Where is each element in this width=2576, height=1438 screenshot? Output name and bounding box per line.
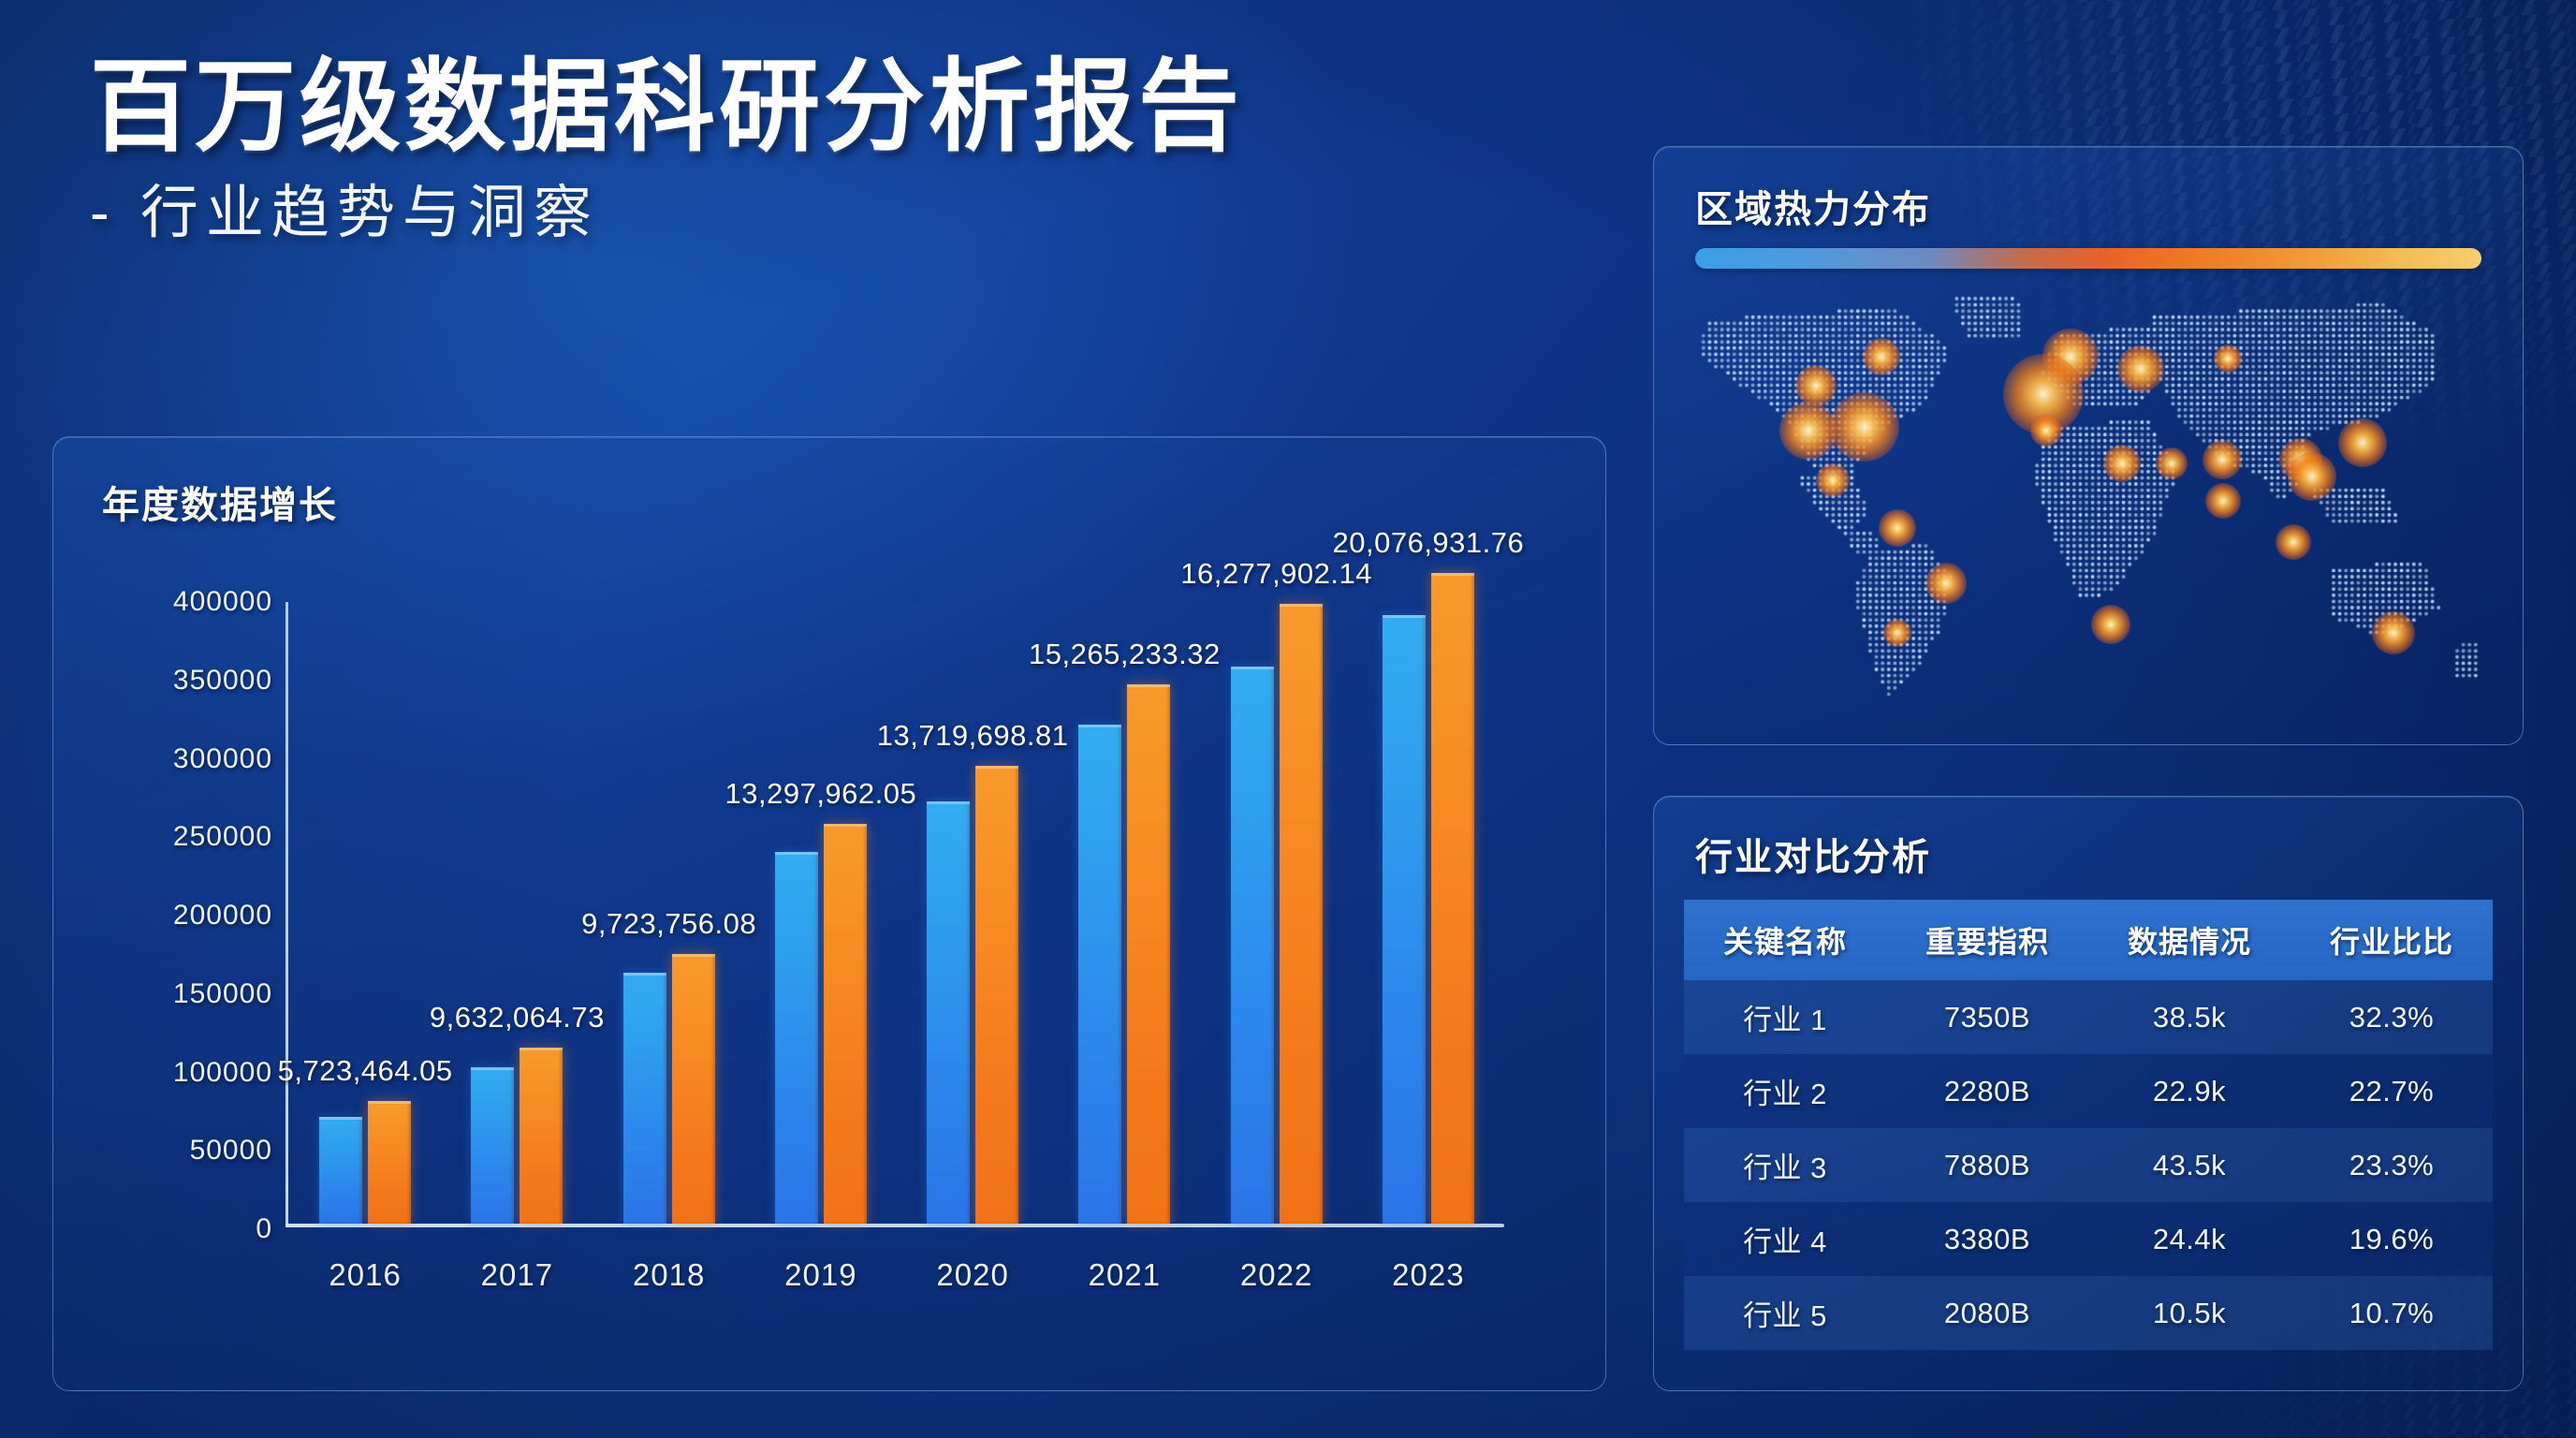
bar-group[interactable]: 13,719,698.81 <box>897 602 1048 1224</box>
bar-chart-plot: 0500001000001500002000002500003000003500… <box>102 565 1564 1353</box>
table-row[interactable]: 行业 43380B24.4k19.6% <box>1684 1202 2493 1276</box>
table-column-header[interactable]: 重要指积 <box>1886 900 2088 980</box>
table-cell: 行业 2 <box>1684 1054 1886 1128</box>
bar-value-label: 5,723,464.05 <box>278 1054 453 1088</box>
x-axis-labels: 20162017201820192020202120222023 <box>289 1257 1504 1293</box>
industry-comparison-table: 关键名称重要指积数据情况行业比比 行业 17350B38.5k32.3%行业 2… <box>1684 900 2493 1350</box>
table-body: 行业 17350B38.5k32.3%行业 22280B22.9k22.7%行业… <box>1684 980 2493 1350</box>
x-axis-label: 2022 <box>1201 1257 1353 1293</box>
y-axis-tick: 250000 <box>173 821 272 853</box>
bar-group[interactable]: 9,723,756.08 <box>593 602 745 1224</box>
y-axis-line <box>285 602 288 1227</box>
bar-group[interactable]: 20,076,931.76 <box>1353 602 1504 1224</box>
table-cell: 38.5k <box>2088 980 2291 1054</box>
bar-orange[interactable] <box>672 954 715 1224</box>
table-card-title: 行业对比分析 <box>1695 827 1931 881</box>
bar-value-label: 20,076,931.76 <box>1333 526 1525 560</box>
table-cell: 行业 1 <box>1684 980 1886 1054</box>
bar-blue[interactable] <box>1078 725 1121 1224</box>
bar-orange[interactable] <box>1127 684 1170 1224</box>
y-axis-tick: 100000 <box>173 1057 272 1089</box>
table-cell: 3380B <box>1886 1202 2088 1276</box>
table-cell: 32.3% <box>2291 980 2493 1054</box>
table-row[interactable]: 行业 52080B10.5k10.7% <box>1684 1276 2493 1350</box>
table-cell: 19.6% <box>2291 1202 2493 1276</box>
table-cell: 43.5k <box>2088 1128 2291 1202</box>
bar-groups: 5,723,464.059,632,064.739,723,756.0813,2… <box>289 602 1504 1224</box>
page-subtitle: - 行业趋势与洞察 <box>90 179 1243 248</box>
heatmap-card-title: 区域热力分布 <box>1695 179 1931 233</box>
table-row[interactable]: 行业 22280B22.9k22.7% <box>1684 1054 2493 1128</box>
table-cell: 行业 4 <box>1684 1202 1886 1276</box>
table-cell: 22.9k <box>2088 1054 2291 1128</box>
x-axis-label: 2019 <box>745 1257 897 1293</box>
x-axis-label: 2016 <box>289 1257 441 1293</box>
bar-orange[interactable] <box>520 1048 563 1224</box>
annual-growth-chart-card: 年度数据增长 050000100000150000200000250000300… <box>52 436 1606 1391</box>
table-cell: 10.7% <box>2291 1276 2493 1350</box>
regional-heatmap-card: 区域热力分布 <box>1653 146 2524 745</box>
bar-orange[interactable] <box>368 1101 411 1224</box>
y-axis-tick: 350000 <box>173 665 272 697</box>
world-map-dotted-icon <box>1682 295 2495 707</box>
bar-orange[interactable] <box>824 824 867 1224</box>
table-header-row: 关键名称重要指积数据情况行业比比 <box>1684 900 2493 980</box>
y-axis-tick: 400000 <box>173 586 272 618</box>
bar-blue[interactable] <box>775 852 818 1224</box>
table-cell: 22.7% <box>2291 1054 2493 1128</box>
bar-orange[interactable] <box>1280 604 1323 1224</box>
x-axis-label: 2020 <box>897 1257 1048 1293</box>
bar-blue[interactable] <box>1383 615 1426 1224</box>
industry-comparison-card: 行业对比分析 关键名称重要指积数据情况行业比比 行业 17350B38.5k32… <box>1653 796 2524 1391</box>
table-cell: 行业 5 <box>1684 1276 1886 1350</box>
x-axis-line <box>285 1224 1504 1227</box>
table-row[interactable]: 行业 37880B43.5k23.3% <box>1684 1128 2493 1202</box>
table-cell: 行业 3 <box>1684 1128 1886 1202</box>
page-title: 百万级数据科研分析报告 <box>90 49 1243 164</box>
bar-value-label: 9,723,756.08 <box>581 907 756 941</box>
world-map <box>1682 295 2495 707</box>
y-axis-tick: 200000 <box>173 900 272 932</box>
table-cell: 10.5k <box>2088 1276 2291 1350</box>
bar-value-label: 13,719,698.81 <box>877 719 1069 753</box>
table-column-header[interactable]: 数据情况 <box>2088 900 2291 980</box>
table-cell: 23.3% <box>2291 1128 2493 1202</box>
bar-value-label: 16,277,902.14 <box>1180 557 1372 591</box>
y-axis-tick: 0 <box>256 1213 272 1245</box>
bar-blue[interactable] <box>319 1117 362 1224</box>
x-axis-label: 2017 <box>441 1257 593 1293</box>
bar-blue[interactable] <box>1231 667 1274 1224</box>
page-header: 百万级数据科研分析报告 - 行业趋势与洞察 <box>90 49 1243 249</box>
y-axis-tick: 300000 <box>173 743 272 775</box>
table-column-header[interactable]: 行业比比 <box>2291 900 2493 980</box>
heat-gradient-bar-icon <box>1695 248 2481 269</box>
table-column-header[interactable]: 关键名称 <box>1684 900 1886 980</box>
table-cell: 2280B <box>1886 1054 2088 1128</box>
x-axis-label: 2023 <box>1353 1257 1504 1293</box>
table-cell: 7880B <box>1886 1128 2088 1202</box>
bar-orange[interactable] <box>975 766 1018 1224</box>
bar-blue[interactable] <box>471 1067 514 1225</box>
chart-card-title: 年度数据增长 <box>102 475 338 529</box>
bar-blue[interactable] <box>623 973 666 1224</box>
bar-value-label: 13,297,962.05 <box>725 777 917 811</box>
bar-group[interactable]: 16,277,902.14 <box>1201 602 1353 1224</box>
x-axis-label: 2018 <box>593 1257 745 1293</box>
x-axis-label: 2021 <box>1048 1257 1200 1293</box>
bar-group[interactable]: 13,297,962.05 <box>745 602 897 1224</box>
bar-orange[interactable] <box>1431 573 1474 1224</box>
bar-value-label: 15,265,233.32 <box>1029 638 1221 671</box>
bar-blue[interactable] <box>927 801 970 1224</box>
table-cell: 24.4k <box>2088 1202 2291 1276</box>
table-row[interactable]: 行业 17350B38.5k32.3% <box>1684 980 2493 1054</box>
bar-group[interactable]: 9,632,064.73 <box>441 602 593 1224</box>
bar-value-label: 9,632,064.73 <box>430 1001 605 1034</box>
bar-group[interactable]: 15,265,233.32 <box>1048 602 1200 1224</box>
y-axis-tick: 150000 <box>173 978 272 1010</box>
y-axis-tick: 50000 <box>190 1135 272 1167</box>
table-cell: 7350B <box>1886 980 2088 1054</box>
bar-group[interactable]: 5,723,464.05 <box>289 602 441 1224</box>
table-cell: 2080B <box>1886 1276 2088 1350</box>
